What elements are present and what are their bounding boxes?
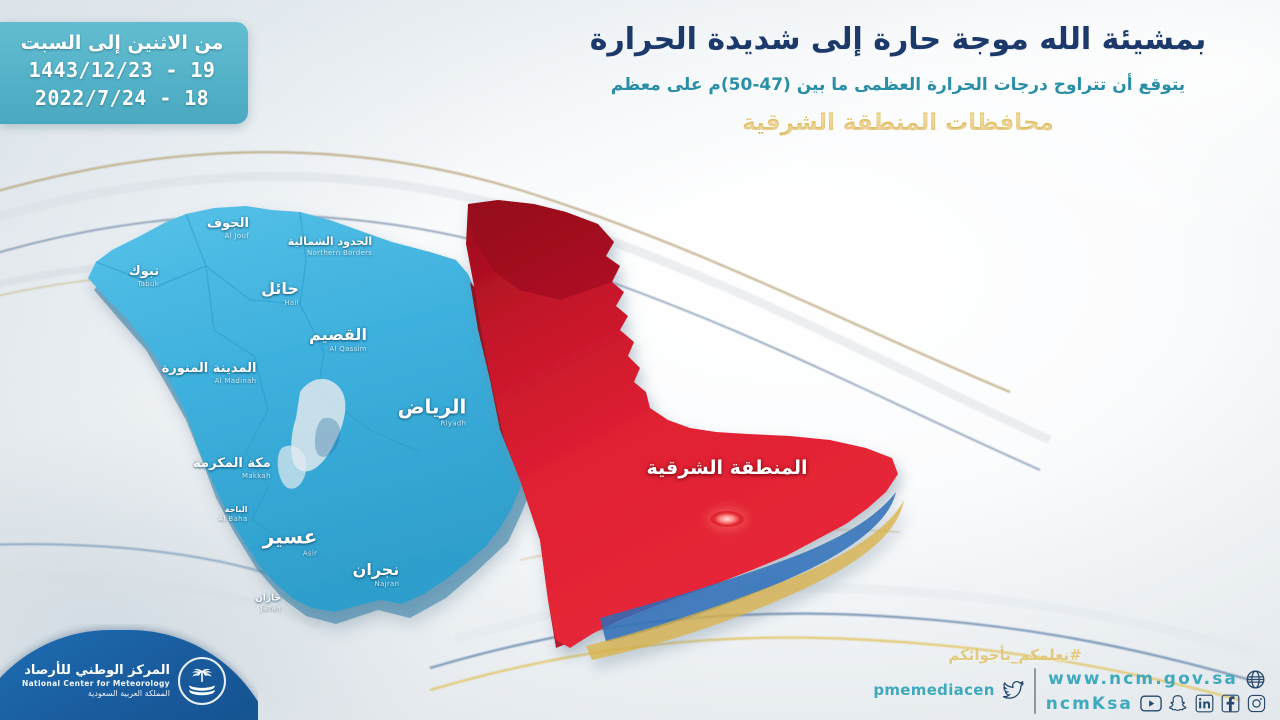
social-block: #نعلمكم_بأجوائكم pmemediacen www.ncm.gov… — [796, 646, 1266, 714]
map-labels-layer: الجوفAl Jouf الحدود الشماليةNorthern Bor… — [0, 0, 1280, 720]
map-label-northern: الحدود الشماليةNorthern Borders — [288, 235, 372, 257]
map-label-asir: عسيرAsir — [263, 525, 318, 558]
ncm-logo-panel: المركز الوطني للأرصاد National Center fo… — [0, 624, 258, 720]
website-url: www.ncm.gov.sa — [1048, 669, 1238, 689]
website-line[interactable]: www.ncm.gov.sa — [1048, 669, 1266, 690]
map-label-albaha: الباحةAl Baha — [219, 505, 248, 523]
map-label-makkah: مكة المكرمةMakkah — [193, 456, 271, 480]
map-label-hail: حائلHail — [261, 279, 299, 307]
map-label-qassim: القصيمAl Qassim — [309, 325, 367, 353]
map-label-tabuk: تبوكTabuk — [129, 264, 159, 288]
youtube-icon[interactable] — [1140, 695, 1162, 712]
hashtag-text: #نعلمكم_بأجوائكم — [796, 646, 1266, 664]
palm-swords-emblem-icon — [178, 657, 226, 705]
logo-text-block: المركز الوطني للأرصاد National Center fo… — [22, 663, 170, 699]
map-label-riyadh: الرياضRiyadh — [398, 395, 467, 428]
map-label-aljouf: الجوفAl Jouf — [207, 216, 249, 240]
facebook-icon[interactable] — [1221, 694, 1240, 713]
twitter-handle-text: pmemediacen — [873, 681, 994, 699]
logo-country-name: المملكة العربية السعودية — [22, 689, 170, 699]
logo-arabic-name: المركز الوطني للأرصاد — [22, 663, 170, 679]
social-divider — [1034, 668, 1036, 714]
globe-icon[interactable] — [1245, 669, 1266, 690]
map-label-jazan: جازانJazan — [255, 594, 281, 613]
twitter-icon[interactable] — [1002, 681, 1024, 699]
instagram-icon[interactable] — [1247, 694, 1266, 713]
infographic-canvas: من الاثنين إلى السبت 19 - 1443/12/23 18 … — [0, 0, 1280, 720]
snapchat-icon[interactable] — [1169, 694, 1188, 713]
map-label-eastern-province: المنطقة الشرقية — [647, 457, 808, 479]
logo-english-name: National Center for Meteorology — [22, 679, 170, 688]
map-label-madinah: المدينة المنورةAl Madinah — [162, 361, 257, 385]
linkedin-icon[interactable] — [1195, 694, 1214, 713]
handle-line[interactable]: ncmKsa — [1046, 694, 1266, 714]
location-glow-marker — [710, 511, 744, 527]
map-label-najran: نجرانNajran — [353, 560, 400, 588]
social-handle: ncmKsa — [1046, 694, 1133, 714]
twitter-handle-group[interactable]: pmemediacen — [873, 681, 1023, 701]
